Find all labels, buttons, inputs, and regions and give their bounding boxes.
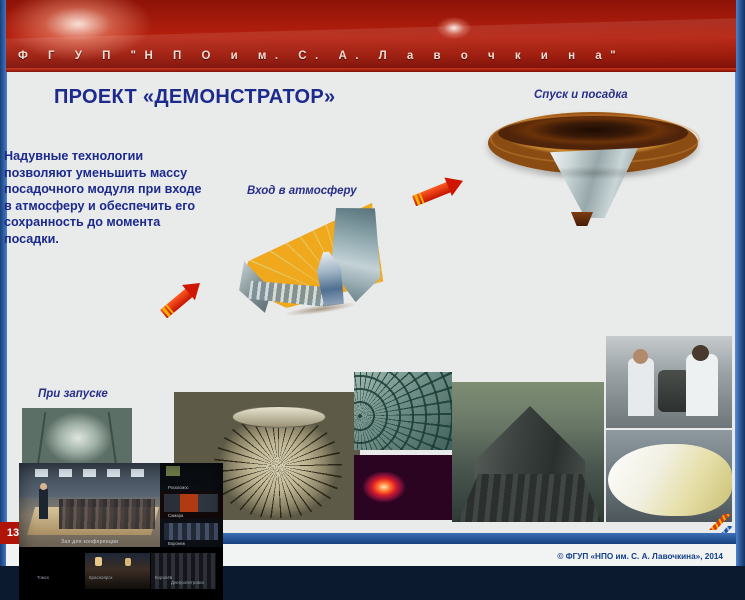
vc-tile-label: Томск: [37, 575, 49, 580]
photo-conical-heat-shield: [452, 382, 604, 522]
caption-atmosphere-entry: Вход в атмосферу: [247, 185, 357, 197]
vc-audience: [59, 499, 155, 529]
vc-tile-video: [164, 523, 218, 540]
vc-tile-label: Днепропетровск: [171, 580, 204, 585]
vc-main-speaker-tile[interactable]: Зал для конференции: [19, 463, 160, 547]
vc-wall-poster: [131, 469, 144, 477]
presentation-screen: Ф Г У П "Н П О и м. С. А. Л а в о ч к и …: [0, 0, 745, 600]
vc-wall-poster: [35, 469, 48, 477]
sphere-ribs: [214, 414, 342, 518]
sphere-top-cap: [232, 406, 326, 428]
vc-bottom-tile-row: Томск Красноярск Королёв Днепропетровск: [19, 547, 223, 600]
page-title: ПРОЕКТ «ДЕМОНСТРАТОР»: [54, 86, 335, 109]
vc-tile-video: [166, 466, 180, 476]
engineer-right: [686, 354, 718, 416]
engineer-left: [628, 358, 654, 416]
photo-content: [354, 455, 452, 520]
vc-wall-poster: [107, 469, 120, 477]
left-blue-rail: [0, 0, 7, 566]
caption-descent-landing: Спуск и посадка: [534, 89, 628, 101]
organization-name: Ф Г У П "Н П О и м. С. А. Л а в о ч к и …: [18, 50, 730, 62]
vc-wall-poster: [59, 469, 72, 477]
vc-tile-label: Королёв: [155, 575, 172, 580]
engineer-right-head: [692, 345, 709, 361]
vc-wall-poster: [83, 469, 96, 477]
vc-side-tile[interactable]: Воронеж: [160, 519, 223, 547]
photo-content: [354, 372, 452, 450]
photo-plasma-heat-test: [354, 455, 452, 520]
vc-stage-light: [125, 558, 131, 566]
vc-bottom-tile[interactable]: Томск: [19, 553, 84, 589]
descent-landing-figure: [488, 112, 698, 232]
photo-shell-ring-structure: [354, 372, 452, 450]
video-conference-overlay[interactable]: Зал для конференции Роскосмос Самара Вор…: [19, 463, 223, 600]
vc-presenter-head: [40, 483, 47, 490]
photo-packed-envelope: [606, 430, 732, 522]
right-blue-rail: [735, 0, 745, 566]
cone-lower-section: [458, 474, 602, 522]
vc-presenter-body: [39, 489, 48, 519]
vc-main-label: Зал для конференции: [61, 539, 118, 545]
vc-tile-label: Красноярск: [89, 575, 112, 580]
photo-engineers-laboratory: [606, 336, 732, 428]
vc-side-tile[interactable]: Роскосмос: [160, 463, 223, 491]
engineer-left-head: [633, 349, 648, 364]
inflatable-envelope: [608, 444, 732, 516]
caption-at-launch: При запуске: [38, 388, 108, 400]
cone-nozzle-tip: [571, 212, 593, 226]
vc-bottom-tile[interactable]: Красноярск: [85, 553, 150, 589]
vc-tile-label: Воронеж: [168, 541, 185, 546]
copyright-text: © ФГУП «НПО им. С. А. Лавочкина», 2014: [557, 552, 723, 561]
body-paragraph: Надувные технологии позволяют уменьшить …: [4, 148, 209, 248]
vc-tile-label: Самара: [168, 513, 183, 518]
atmosphere-entry-figure: [231, 198, 391, 327]
vc-stage-light: [95, 557, 102, 566]
silver-cone-body: [550, 148, 638, 218]
vc-side-tile-column: Роскосмос Самара Воронеж: [160, 463, 223, 547]
vc-side-tile[interactable]: Самара: [160, 491, 223, 519]
header-banner: Ф Г У П "Н П О и м. С. А. Л а в о ч к и …: [6, 0, 736, 72]
vc-tile-label: Роскосмос: [168, 485, 189, 490]
vc-tile-video: [164, 494, 218, 512]
banner-bottom-strip: [6, 68, 736, 72]
disc-shadow: [506, 164, 682, 182]
